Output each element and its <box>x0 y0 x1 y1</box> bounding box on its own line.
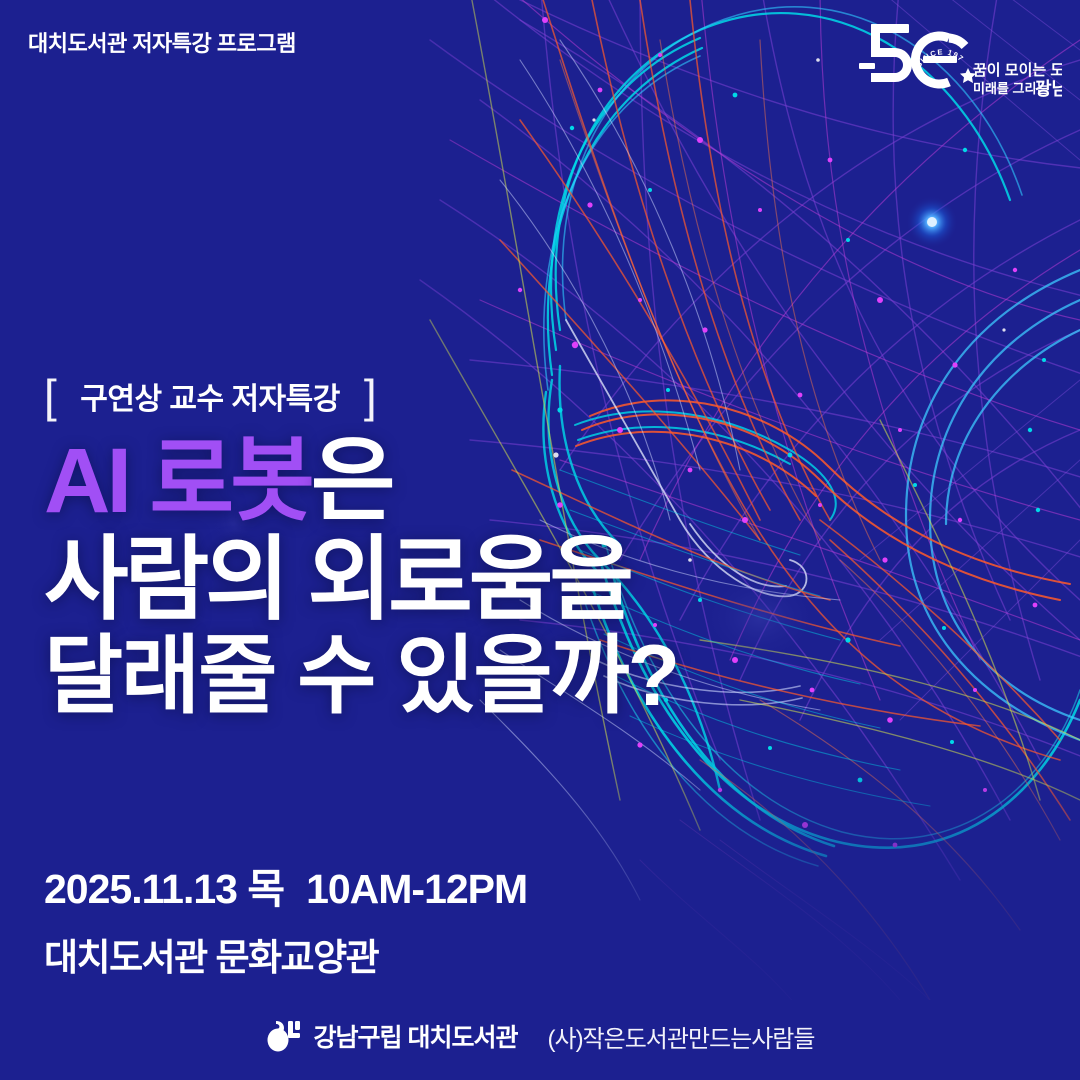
anniversary-tagline-line1: 꿈이 모이는 도시 <box>973 62 1062 79</box>
anniversary-brand: 강남 <box>1035 79 1062 99</box>
program-label: 대치도서관 저자특강 프로그램 <box>28 26 296 58</box>
gangnam-50th-anniversary-logo: SINCE 1975 꿈이 모이는 도시 미래를 그리는 강남 <box>857 18 1062 106</box>
speaker-eyebrow: [ 구연상 교수 저자특강 ] <box>44 370 924 422</box>
title-line-2: 사람의 외로움을 <box>44 533 924 628</box>
title-highlight-ai-robot: AI 로봇 <box>44 430 311 532</box>
event-date: 2025.11.13 목 <box>44 866 284 912</box>
event-time: 10AM-12PM <box>306 866 527 912</box>
footer-library-name: 강남구립 대치도서관 <box>314 1018 518 1054</box>
schedule-block: 2025.11.13 목10AM-12PM 대치도서관 문화교양관 <box>44 855 527 981</box>
title-line-3: 달래줄 수 있을까? <box>44 632 924 721</box>
event-venue: 대치도서관 문화교양관 <box>44 927 527 981</box>
event-date-time: 2025.11.13 목10AM-12PM <box>44 855 527 915</box>
bracket-left-icon: [ <box>44 373 56 419</box>
footer-organizer-name: (사)작은도서관만드는사람들 <box>548 1019 815 1054</box>
poster-root: 대치도서관 저자특강 프로그램 SINCE 19 <box>0 0 1080 1080</box>
library-logo-icon <box>266 1019 304 1053</box>
bracket-right-icon: ] <box>364 373 376 419</box>
footer-block: 강남구립 대치도서관 (사)작은도서관만드는사람들 <box>0 1018 1080 1054</box>
main-title-block: [ 구연상 교수 저자특강 ] AI 로봇은 사람의 외로움을 달래줄 수 있을… <box>44 370 924 720</box>
title-line-1: AI 로봇은 <box>44 434 924 529</box>
speaker-eyebrow-text: 구연상 교수 저자특강 <box>80 374 340 418</box>
title-line-1-suffix: 은 <box>311 430 392 532</box>
